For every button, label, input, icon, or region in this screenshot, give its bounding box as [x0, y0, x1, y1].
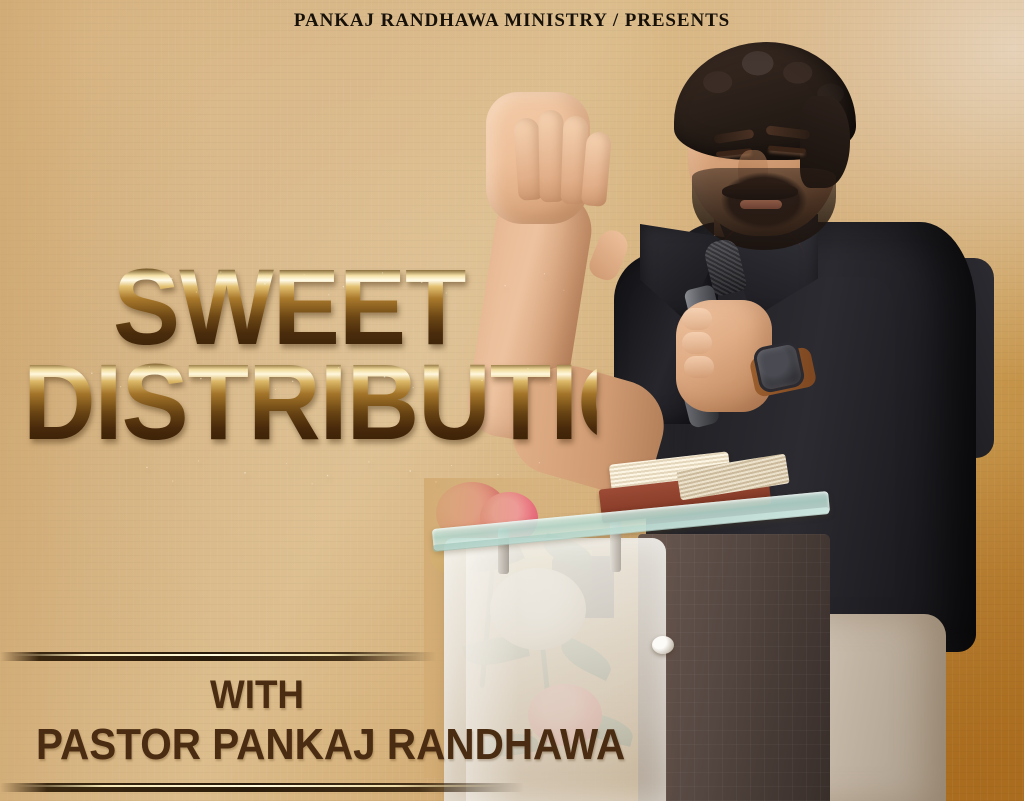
title-line-1: SWEET — [113, 262, 603, 353]
title-line-3: SUNDAY — [85, 451, 601, 542]
poster-canvas: PANKAJ RANDHAWA MINISTRY / PRESENTS SWEE… — [0, 0, 1024, 801]
divider-rule-bottom — [0, 783, 524, 792]
lips — [740, 200, 782, 209]
title-sparkle-overlay — [23, 357, 597, 448]
ministry-kicker: PANKAJ RANDHAWA MINISTRY / PRESENTS — [0, 10, 1024, 32]
title-line-2: DISTRIBUTION — [23, 357, 597, 448]
credit-speaker-name: PASTOR PANKAJ RANDHAWA — [36, 723, 945, 767]
knuckle — [682, 308, 712, 330]
credit-with-label: WITH — [210, 675, 959, 715]
credit-text: WITH PASTOR PANKAJ RANDHAWA — [0, 661, 1024, 783]
title-sparkle-overlay — [113, 262, 603, 353]
divider-rule-top — [0, 652, 436, 661]
raised-palm — [486, 92, 590, 224]
credit-block: WITH PASTOR PANKAJ RANDHAWA — [0, 652, 1024, 792]
event-title: SWEET DISTRIBUTION SUNDAY — [0, 262, 640, 542]
mustache — [722, 182, 798, 200]
finger-little — [581, 131, 612, 207]
title-sparkle-overlay — [85, 451, 601, 542]
